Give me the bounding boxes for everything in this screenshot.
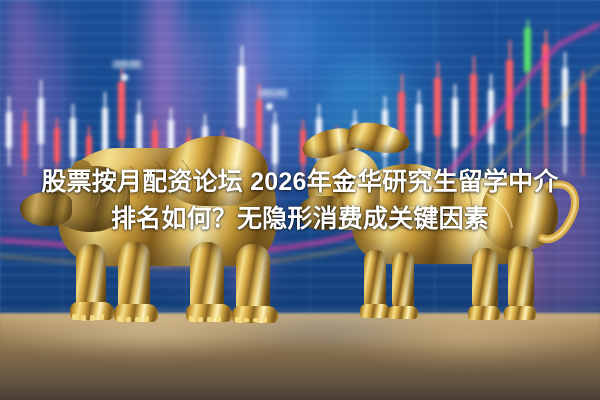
bull-foreleg (364, 250, 386, 310)
bull-hoof (468, 306, 500, 320)
price-marker-dot (266, 103, 273, 110)
bull-hoof (360, 304, 390, 318)
headline: 股票按月配资论坛 2026年金华研究生留学中介 排名如何？无隐形消费成关键因素 (0, 164, 600, 238)
bull-foreleg (392, 252, 414, 310)
price-marker-dot (121, 74, 128, 81)
bull-hindleg (508, 246, 534, 310)
headline-line-1: 股票按月配资论坛 2026年金华研究生留学中介 (0, 164, 600, 201)
price-tag: 266.88 (112, 60, 142, 69)
bull-hoof (388, 306, 418, 319)
bull-hindleg (472, 248, 498, 310)
banner-image: 266.88 261.00 (0, 0, 600, 400)
headline-line-2: 排名如何？无隐形消费成关键因素 (0, 201, 600, 238)
price-tag: 261.00 (258, 89, 288, 98)
bull-hoof (504, 306, 536, 320)
